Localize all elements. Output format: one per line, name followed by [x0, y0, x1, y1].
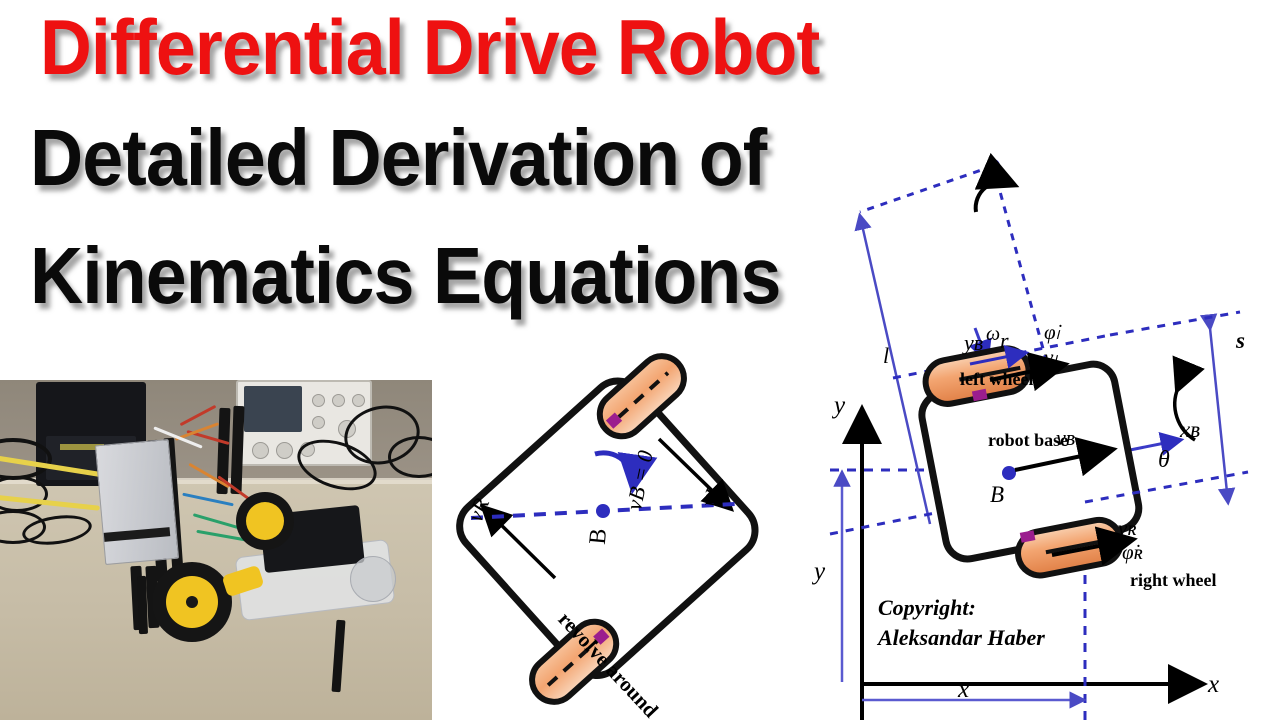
omega-arc-arrow [976, 182, 1012, 212]
x-dimension-label: x [958, 676, 969, 704]
body-x-label: xʙ [1180, 417, 1200, 443]
robot-photo [0, 380, 432, 720]
title-line-primary: Differential Drive Robot [40, 8, 819, 86]
photo-scope-knob [312, 416, 325, 429]
photo-scope-knob [276, 442, 293, 459]
photo-robot-wheel-hub [246, 502, 284, 540]
v-left-label: vₗ [1044, 345, 1057, 370]
phi-dot-right-label: φ̇ʀ [1122, 540, 1143, 565]
photo-scope-knob [332, 394, 345, 407]
icr-distance-label: l [883, 343, 889, 369]
left-wheel-label: left wheel [960, 369, 1033, 390]
body-center-point [1002, 466, 1016, 480]
photo-scope-knob [352, 394, 365, 407]
phi-dot-left-label: φ̇ₗ [1044, 320, 1059, 345]
l-dimension-arrow [860, 216, 930, 524]
s-dimension-arrow [1210, 328, 1228, 502]
title-line-secondary: Detailed Derivation of [30, 118, 766, 198]
robot-base-label: robot base [988, 430, 1068, 451]
photo-scope-knob [312, 394, 325, 407]
rotation-in-place-diagram: vL vR B vB = 0 revolve around [445, 375, 795, 720]
theta-label: θ [1158, 447, 1170, 474]
rotation-center-label: B [585, 527, 613, 545]
wheel-radius-label: r [1000, 328, 1009, 354]
world-x-label: x [1208, 671, 1219, 699]
photo-scope-knob [252, 442, 269, 459]
right-wheel-label: right wheel [1130, 570, 1216, 591]
photo-robot-board [95, 439, 179, 565]
title-line-tertiary: Kinematics Equations [30, 236, 780, 316]
icr-left-ray [860, 166, 993, 212]
photo-robot-wheel-axle [186, 596, 198, 608]
track-width-label: s [1236, 328, 1245, 354]
photo-oscilloscope-screen [244, 386, 302, 432]
photo-robot-caster [350, 556, 396, 602]
world-y-label: y [834, 392, 845, 420]
v-right-label: vʀ [1118, 516, 1137, 541]
body-center-label: B [990, 482, 1004, 508]
copyright-line-1: Copyright: [878, 595, 976, 621]
y-dimension-label: y [814, 558, 825, 586]
copyright-line-2: Aleksandar Haber [878, 625, 1045, 651]
kinematics-diagram: y x y x l ω yʙ xʙ s θ r φ̇ₗ vₗ vʀ φ̇ʀ vʙ… [800, 130, 1280, 720]
body-y-label: yʙ [964, 330, 983, 356]
omega-label: ω [986, 323, 1000, 346]
base-center-point [596, 504, 610, 518]
left-axis-guide-ext [1110, 312, 1240, 335]
thumbnail-canvas: Differential Drive Robot Detailed Deriva… [0, 0, 1280, 720]
